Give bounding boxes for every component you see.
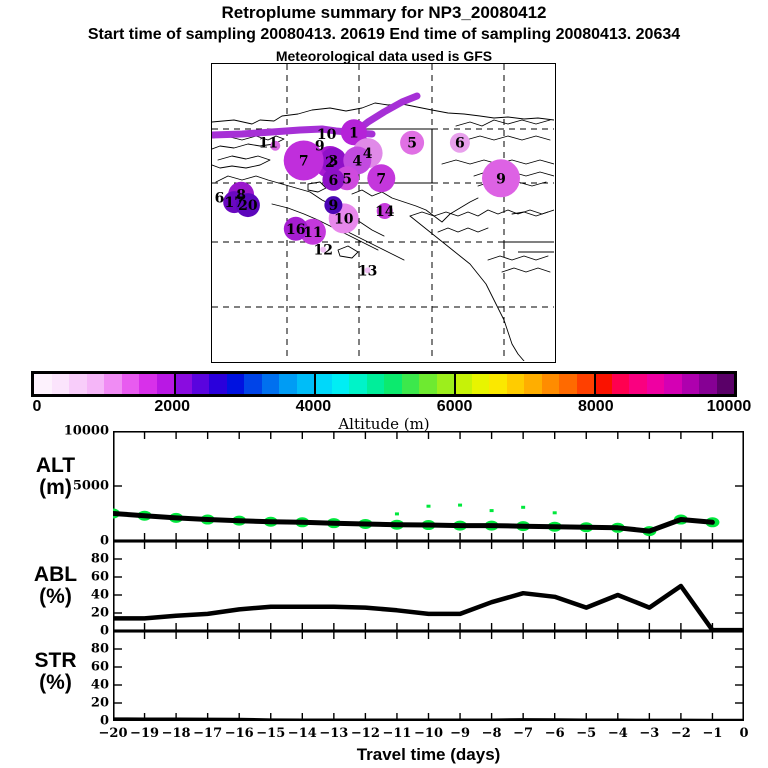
colorbar-segment bbox=[34, 374, 52, 394]
map-canvas: 123445677891011141617205691110912136 bbox=[212, 64, 554, 361]
timeseries-panels bbox=[113, 431, 744, 721]
timeseries-canvas bbox=[113, 431, 744, 721]
x-tick-label: −11 bbox=[382, 726, 411, 741]
plume-marker-layer: 123445677891011141617205691110912136 bbox=[215, 119, 520, 279]
y-tick-label: 20 bbox=[91, 606, 109, 621]
colorbar-segment bbox=[332, 374, 350, 394]
colorbar-segment bbox=[437, 374, 455, 394]
colorbar-segment bbox=[279, 374, 297, 394]
plume-marker-label: 6 bbox=[329, 173, 339, 189]
colorbar-tick: 4000 bbox=[296, 398, 332, 416]
plume-marker-label: 6 bbox=[455, 136, 465, 152]
colorbar-tick: 6000 bbox=[437, 398, 473, 416]
colorbar-segment bbox=[664, 374, 682, 394]
colorbar-tick: 8000 bbox=[578, 398, 614, 416]
colorbar-segment bbox=[472, 374, 490, 394]
x-tick-label: −13 bbox=[319, 726, 348, 741]
alt-spread-speck bbox=[427, 505, 431, 508]
colorbar-segment bbox=[682, 374, 700, 394]
colorbar-segment bbox=[419, 374, 437, 394]
panel-frame bbox=[114, 542, 744, 631]
x-tick-label: −6 bbox=[545, 726, 565, 741]
x-tick-label: −5 bbox=[576, 726, 596, 741]
colorbar-segment bbox=[699, 374, 717, 394]
colorbar-segment bbox=[647, 374, 665, 394]
colorbar-segment bbox=[52, 374, 70, 394]
x-tick-label: −2 bbox=[671, 726, 691, 741]
plume-marker-label: 4 bbox=[363, 146, 373, 162]
x-tick-label: −18 bbox=[162, 726, 191, 741]
sampling-time-subtitle: Start time of sampling 20080413. 20619 E… bbox=[0, 26, 768, 44]
colorbar-segment bbox=[192, 374, 210, 394]
y-tick-label: 40 bbox=[91, 678, 109, 693]
colorbar-segment bbox=[577, 374, 595, 394]
x-tick-label: −20 bbox=[99, 726, 128, 741]
colorbar-segment bbox=[594, 374, 612, 394]
map-text-label: 6 bbox=[215, 191, 225, 207]
colorbar-segment bbox=[122, 374, 140, 394]
x-tick-label: −10 bbox=[414, 726, 443, 741]
x-axis-tick-labels: −20−19−18−17−16−15−14−13−12−11−10−9−8−7−… bbox=[0, 726, 768, 746]
y-tick-label: 0 bbox=[100, 624, 109, 639]
colorbar-segment bbox=[612, 374, 630, 394]
colorbar-segment bbox=[209, 374, 227, 394]
page-title: Retroplume summary for NP3_20080412 bbox=[0, 3, 768, 23]
colorbar-segment bbox=[244, 374, 262, 394]
x-tick-label: −3 bbox=[639, 726, 659, 741]
colorbar-segment bbox=[157, 374, 175, 394]
plume-marker-label: 4 bbox=[352, 154, 362, 170]
plume-marker-label: 20 bbox=[238, 198, 258, 214]
x-tick-label: −12 bbox=[351, 726, 380, 741]
colorbar-tick: 2000 bbox=[154, 398, 190, 416]
colorbar-segment bbox=[297, 374, 315, 394]
y-tick-label: 60 bbox=[91, 570, 109, 585]
meteorology-subtitle: Meteorological data used is GFS bbox=[0, 48, 768, 64]
colorbar-gradient bbox=[31, 371, 737, 397]
colorbar-segment bbox=[384, 374, 402, 394]
plume-marker-label: 1 bbox=[349, 125, 359, 141]
plume-marker-label: 14 bbox=[375, 204, 395, 220]
colorbar-segment bbox=[629, 374, 647, 394]
x-tick-label: −16 bbox=[225, 726, 254, 741]
colorbar-segment bbox=[542, 374, 560, 394]
y-tick-label: 10000 bbox=[64, 424, 109, 439]
x-tick-label: −19 bbox=[130, 726, 159, 741]
colorbar-segment bbox=[559, 374, 577, 394]
colorbar-segment bbox=[227, 374, 245, 394]
colorbar-segment bbox=[524, 374, 542, 394]
colorbar-segment bbox=[489, 374, 507, 394]
x-tick-label: −4 bbox=[608, 726, 628, 741]
plume-marker-label: 9 bbox=[496, 171, 506, 187]
x-tick-label: −1 bbox=[702, 726, 722, 741]
colorbar-segment bbox=[104, 374, 122, 394]
x-tick-label: 0 bbox=[739, 726, 748, 741]
colorbar-segment bbox=[314, 374, 332, 394]
plume-marker-label: 7 bbox=[299, 154, 309, 170]
plume-marker-label: 16 bbox=[286, 222, 305, 238]
colorbar-divider bbox=[594, 374, 596, 394]
colorbar-segment bbox=[507, 374, 525, 394]
alt-spread-speck bbox=[458, 504, 462, 507]
x-tick-label: −9 bbox=[450, 726, 470, 741]
y-tick-label: 40 bbox=[91, 588, 109, 603]
y-tick-label: 60 bbox=[91, 660, 109, 675]
colorbar: 0200040006000800010000 Altitude (m) bbox=[31, 371, 737, 397]
panel-frame bbox=[114, 632, 744, 721]
alt-spread-speck bbox=[395, 512, 399, 515]
x-tick-label: −14 bbox=[288, 726, 317, 741]
plume-marker-label: 3 bbox=[329, 154, 339, 170]
colorbar-segment bbox=[262, 374, 280, 394]
y-tick-label: 20 bbox=[91, 696, 109, 711]
colorbar-divider bbox=[454, 374, 456, 394]
plume-marker-label: 5 bbox=[342, 171, 352, 187]
plume-marker-label: 9 bbox=[329, 198, 339, 214]
plume-marker-label: 11 bbox=[303, 225, 322, 241]
plume-marker-label: 5 bbox=[407, 136, 417, 152]
x-tick-label: −7 bbox=[513, 726, 533, 741]
alt-spread-speck bbox=[521, 506, 525, 509]
plume-marker-label: 7 bbox=[376, 171, 386, 187]
y-tick-label: 5000 bbox=[73, 479, 109, 494]
map-text-label: 11 bbox=[259, 136, 278, 152]
colorbar-segment bbox=[174, 374, 192, 394]
map-text-label: 12 bbox=[313, 243, 332, 259]
y-tick-label: 80 bbox=[91, 552, 109, 567]
colorbar-tick: 10000 bbox=[707, 398, 752, 416]
panel-label-str: STR (%) bbox=[8, 650, 103, 694]
panel-label-abl: ABL (%) bbox=[8, 564, 103, 608]
colorbar-segment bbox=[454, 374, 472, 394]
colorbar-divider bbox=[174, 374, 176, 394]
alt-spread-speck bbox=[553, 511, 557, 514]
colorbar-segment bbox=[139, 374, 157, 394]
colorbar-segment bbox=[402, 374, 420, 394]
retroplume-map: 123445677891011141617205691110912136 bbox=[211, 63, 556, 363]
map-text-label: 9 bbox=[315, 139, 325, 155]
y-tick-label: 80 bbox=[91, 642, 109, 657]
alt-spread-speck bbox=[490, 509, 494, 512]
colorbar-segment bbox=[69, 374, 87, 394]
colorbar-segment bbox=[87, 374, 105, 394]
colorbar-segment bbox=[717, 374, 735, 394]
str-line bbox=[113, 720, 744, 721]
colorbar-divider bbox=[314, 374, 316, 394]
map-text-label: 13 bbox=[358, 263, 377, 279]
y-tick-label: 0 bbox=[100, 534, 109, 549]
x-tick-label: −17 bbox=[193, 726, 222, 741]
x-axis-label: Travel time (days) bbox=[113, 745, 744, 765]
colorbar-tick: 0 bbox=[33, 398, 42, 416]
colorbar-segment bbox=[349, 374, 367, 394]
x-tick-label: −15 bbox=[256, 726, 285, 741]
colorbar-segment bbox=[367, 374, 385, 394]
x-tick-label: −8 bbox=[482, 726, 502, 741]
